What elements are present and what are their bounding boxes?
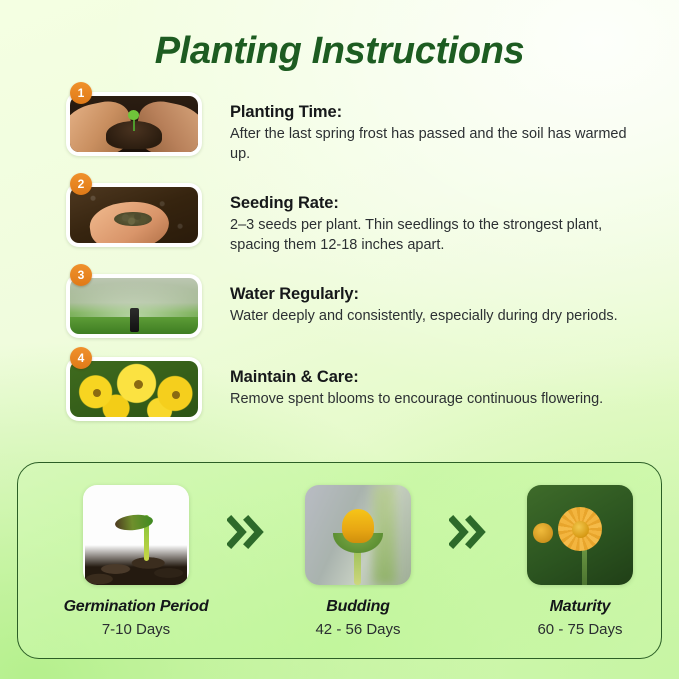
- timeline-stage-germination: Germination Period 7-10 Days: [52, 485, 220, 638]
- step-number-badge: 2: [70, 173, 92, 195]
- step-item: 1 Planting Time: After the last spring f…: [66, 92, 656, 164]
- step-item: 3 Water Regularly: Water deeply and cons…: [66, 274, 656, 338]
- planting-instructions-poster: Planting Instructions 1 Planting Time: A…: [0, 0, 679, 679]
- growth-timeline-row: Germination Period 7-10 Days Budding 42 …: [18, 463, 661, 638]
- step-heading: Seeding Rate:: [230, 193, 650, 213]
- steps-list: 1 Planting Time: After the last spring f…: [66, 92, 656, 440]
- stage-name: Germination Period: [52, 598, 220, 616]
- step-text-block: Maintain & Care: Remove spent blooms to …: [230, 357, 603, 410]
- page-title: Planting Instructions: [0, 28, 679, 74]
- step-body: After the last spring frost has passed a…: [230, 125, 650, 164]
- step-thumbnail-1: 1: [66, 92, 202, 156]
- step-thumbnail-4: 4: [66, 357, 202, 421]
- hand-holding-seeds-over-soil-image: [70, 187, 198, 243]
- step-number-badge: 3: [70, 264, 92, 286]
- step-body: 2–3 seeds per plant. Thin seedlings to t…: [230, 216, 650, 255]
- double-chevron-right-icon: [220, 485, 274, 549]
- step-item: 2 Seeding Rate: 2–3 seeds per plant. Thi…: [66, 183, 656, 255]
- step-text-block: Water Regularly: Water deeply and consis…: [230, 274, 618, 327]
- stage-duration: 60 - 75 Days: [496, 621, 664, 638]
- step-number-badge: 1: [70, 82, 92, 104]
- hands-holding-soil-with-sprout-image: [70, 96, 198, 152]
- growth-timeline-card: Germination Period 7-10 Days Budding 42 …: [17, 462, 662, 659]
- step-heading: Planting Time:: [230, 102, 650, 122]
- step-text-block: Seeding Rate: 2–3 seeds per plant. Thin …: [230, 183, 650, 255]
- stage-duration: 42 - 56 Days: [274, 621, 442, 638]
- seedling-sprouting-from-soil-image: [83, 485, 189, 585]
- step-item: 4 Maintain & Care: Remove spent blooms t…: [66, 357, 656, 421]
- open-orange-yellow-daisy-flower-image: [527, 485, 633, 585]
- step-number-badge: 4: [70, 347, 92, 369]
- step-thumbnail-2: 2: [66, 183, 202, 247]
- double-chevron-right-icon: [442, 485, 496, 549]
- yellow-flower-bud-closed-image: [305, 485, 411, 585]
- stage-name: Budding: [274, 598, 442, 616]
- timeline-stage-maturity: Maturity 60 - 75 Days: [496, 485, 664, 638]
- step-body: Remove spent blooms to encourage continu…: [230, 390, 603, 410]
- step-heading: Water Regularly:: [230, 284, 618, 304]
- stage-name: Maturity: [496, 598, 664, 616]
- stage-duration: 7-10 Days: [52, 621, 220, 638]
- timeline-stage-budding: Budding 42 - 56 Days: [274, 485, 442, 638]
- lawn-sprinkler-spraying-water-image: [70, 278, 198, 334]
- step-body: Water deeply and consistently, especiall…: [230, 307, 618, 327]
- step-thumbnail-3: 3: [66, 274, 202, 338]
- step-text-block: Planting Time: After the last spring fro…: [230, 92, 650, 164]
- yellow-flowers-in-bloom-image: [70, 361, 198, 417]
- step-heading: Maintain & Care:: [230, 367, 603, 387]
